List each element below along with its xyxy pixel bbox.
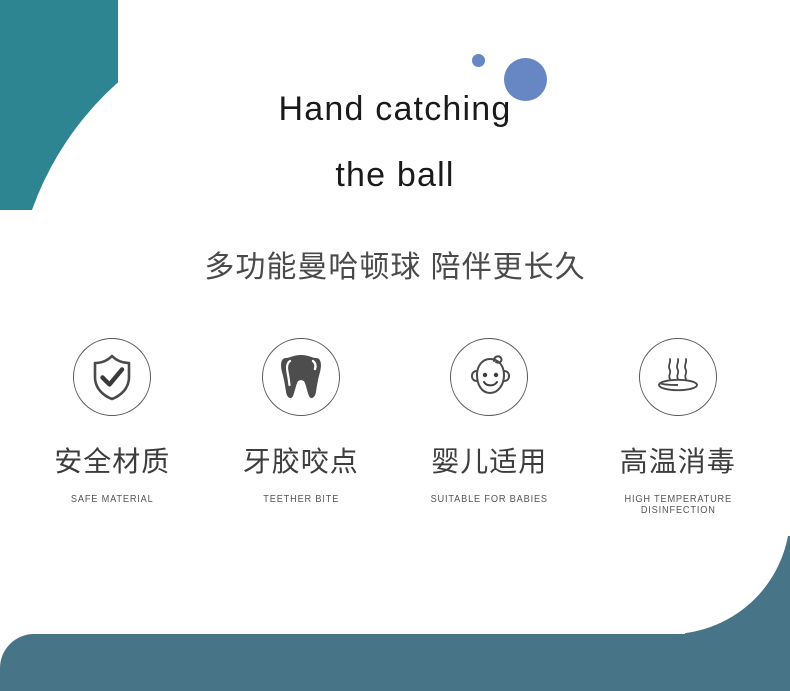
headline-line-1: Hand catching xyxy=(0,76,790,142)
feature-item-safe-material: 安全材质 SAFE MATERIAL xyxy=(18,338,207,516)
feature-item-teether-bite: 牙胶咬点 TEETHER BITE xyxy=(207,338,396,516)
feature-label-cn: 婴儿适用 xyxy=(395,440,584,480)
shield-check-icon xyxy=(73,338,151,416)
tooth-icon xyxy=(262,338,340,416)
feature-label-en: SUITABLE FOR BABIES xyxy=(403,494,576,505)
headline-block: Hand catching the ball xyxy=(0,0,790,208)
baby-face-icon xyxy=(450,338,528,416)
feature-label-en: TEETHER BITE xyxy=(214,494,387,505)
small-blue-circle-icon xyxy=(472,54,485,67)
feature-label-cn: 牙胶咬点 xyxy=(207,440,396,480)
headline-line-2: the ball xyxy=(0,142,790,208)
steaming-bowl-icon xyxy=(639,338,717,416)
feature-label-en: HIGH TEMPERATURE DISINFECTION xyxy=(591,494,764,516)
feature-label-en: SAFE MATERIAL xyxy=(26,494,199,505)
poster-content: Hand catching the ball 多功能曼哈顿球 陪伴更长久 安全材… xyxy=(0,0,790,516)
feature-label-cn: 高温消毒 xyxy=(584,440,773,480)
subtitle: 多功能曼哈顿球 陪伴更长久 xyxy=(0,242,790,286)
feature-item-high-temperature-disinfection: 高温消毒 HIGH TEMPERATURE DISINFECTION xyxy=(584,338,773,516)
bottom-band xyxy=(0,634,790,691)
feature-label-cn: 安全材质 xyxy=(18,440,207,480)
feature-list: 安全材质 SAFE MATERIAL 牙胶咬点 TEETHER BITE xyxy=(0,338,790,516)
feature-item-suitable-for-babies: 婴儿适用 SUITABLE FOR BABIES xyxy=(395,338,584,516)
